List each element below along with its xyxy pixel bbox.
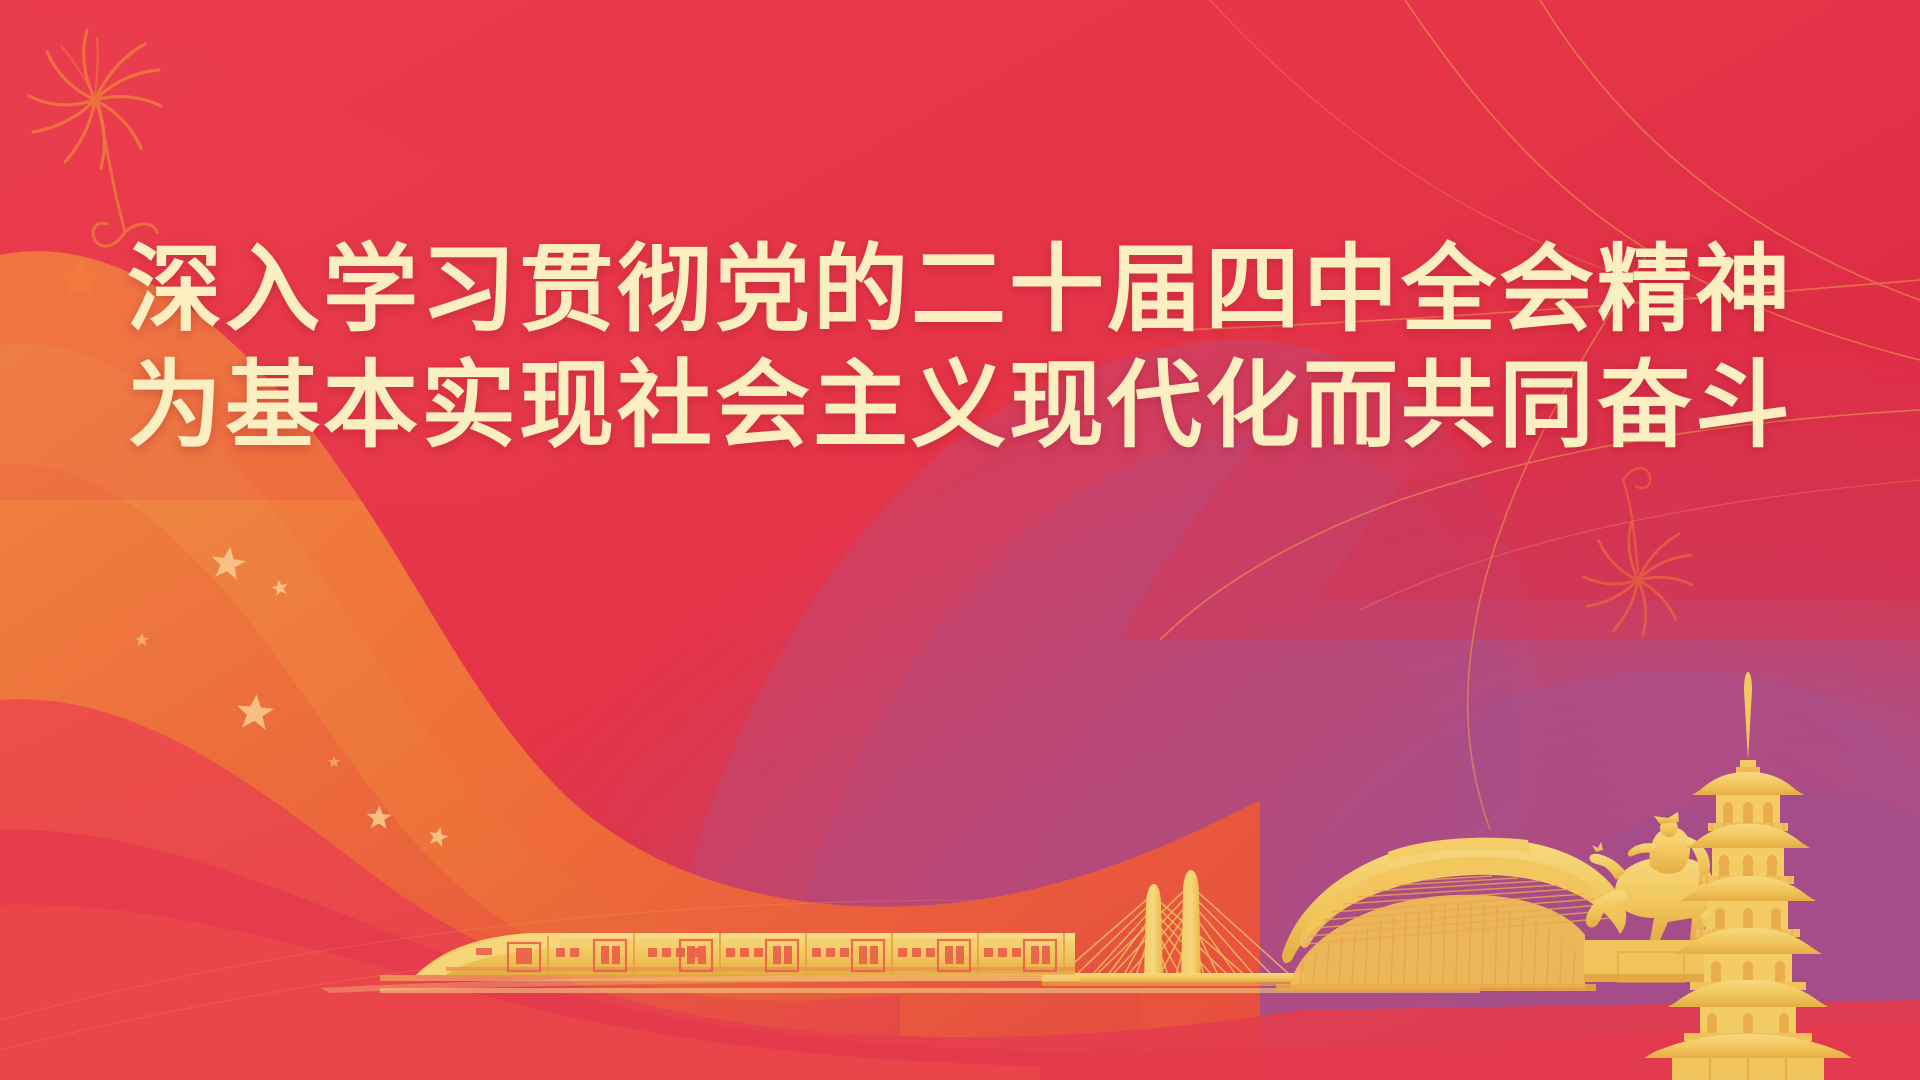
cable-stayed-bridge-icon: [1042, 870, 1304, 986]
poster-canvas: 深入学习贯彻党的二十届四中全会精神 为基本实现社会主义现代化而共同奋斗: [0, 0, 1920, 1080]
high-speed-train-icon: [320, 933, 1080, 993]
stadium-dome-icon: [1276, 838, 1626, 991]
skyline-illustration: [0, 0, 1920, 1080]
